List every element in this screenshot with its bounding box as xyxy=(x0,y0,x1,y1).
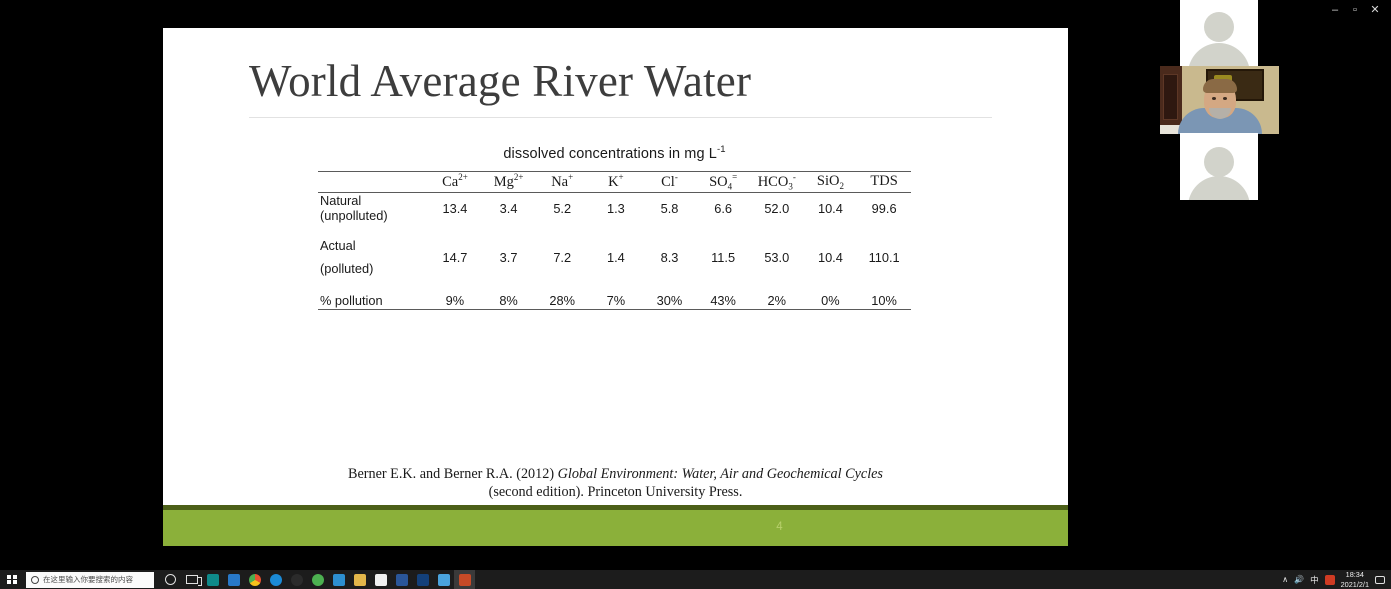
refresh-app-icon[interactable] xyxy=(328,570,349,589)
table-caption-text: dissolved concentrations in mg L xyxy=(503,146,717,162)
header-so4-text: SO xyxy=(709,174,728,190)
header-cell-mg: Mg2+ xyxy=(482,172,536,192)
header-cl-sup: - xyxy=(675,172,678,182)
window-controls: – ▫ ✕ xyxy=(1319,0,1391,20)
participant-tile-2[interactable] xyxy=(1160,66,1279,134)
table-caption: dissolved concentrations in mg L-1 xyxy=(318,144,911,162)
cell-actual-hco3: 53.0 xyxy=(750,224,804,293)
task-view-icon[interactable] xyxy=(181,570,202,589)
start-button[interactable] xyxy=(0,570,24,589)
word-icon[interactable] xyxy=(391,570,412,589)
table-row: % pollution 9% 8% 28% 7% 30% 43% 2% 0% 1… xyxy=(318,293,911,309)
table-row: Actual (polluted) 14.7 3.7 7.2 1.4 8.3 1… xyxy=(318,224,911,293)
header-k-sup: + xyxy=(619,172,624,182)
cell-actual-so4: 11.5 xyxy=(696,224,750,293)
table-row: Natural (unpolluted) 13.4 3.4 5.2 1.3 5.… xyxy=(318,193,911,224)
cell-actual-na: 7.2 xyxy=(535,224,589,293)
header-hco3-text: HCO xyxy=(758,174,789,190)
cell-natural-so4: 6.6 xyxy=(696,193,750,224)
notifications-icon[interactable] xyxy=(1375,576,1385,584)
header-cell-rowlabel xyxy=(318,172,428,192)
header-cell-sio2: SiO2 xyxy=(804,172,858,192)
header-na-sup: + xyxy=(568,172,573,182)
row-label-pollution: % pollution xyxy=(318,293,428,309)
app-icon-lightblue[interactable] xyxy=(433,570,454,589)
header-tds-text: TDS xyxy=(870,173,897,189)
cell-actual-ca: 14.7 xyxy=(428,224,482,293)
cell-actual-sio2: 10.4 xyxy=(804,224,858,293)
title-divider xyxy=(249,117,992,118)
header-hco3-sub: 3 xyxy=(788,182,793,192)
file-explorer-icon[interactable] xyxy=(349,570,370,589)
header-cell-na: Na+ xyxy=(535,172,589,192)
avatar-head-icon xyxy=(1204,12,1234,42)
webcam-person-eye-right xyxy=(1223,97,1227,100)
row-label-actual-line1: Actual xyxy=(320,238,356,253)
cell-natural-mg: 3.4 xyxy=(482,193,536,224)
participant-tile-3[interactable] xyxy=(1180,133,1258,200)
page-title: World Average River Water xyxy=(249,55,751,107)
qq-icon[interactable] xyxy=(286,570,307,589)
header-mg-sup: 2+ xyxy=(514,172,524,182)
app-icon-navy[interactable] xyxy=(412,570,433,589)
webcam-person-hair xyxy=(1203,79,1237,93)
header-so4-sub: 4 xyxy=(728,182,733,192)
webcam-person-eye-left xyxy=(1212,97,1216,100)
cell-pollution-cl: 30% xyxy=(643,293,697,309)
maximize-button[interactable]: ▫ xyxy=(1345,5,1365,16)
cell-natural-k: 1.3 xyxy=(589,193,643,224)
avatar-head-icon xyxy=(1204,147,1234,177)
cell-pollution-sio2: 0% xyxy=(804,293,858,309)
row-label-natural: Natural (unpolluted) xyxy=(318,193,428,224)
cell-actual-k: 1.4 xyxy=(589,224,643,293)
avatar-body-icon xyxy=(1188,176,1250,200)
cell-natural-na: 5.2 xyxy=(535,193,589,224)
minimize-button[interactable]: – xyxy=(1325,5,1345,16)
cell-pollution-tds: 10% xyxy=(857,293,911,309)
header-na-text: Na xyxy=(551,174,568,190)
cell-actual-tds: 110.1 xyxy=(857,224,911,293)
cell-actual-cl: 8.3 xyxy=(643,224,697,293)
header-cell-so4: SO4= xyxy=(696,172,750,192)
cell-pollution-ca: 9% xyxy=(428,293,482,309)
clock-date: 2021/2/1 xyxy=(1341,580,1369,589)
header-ca-sup: 2+ xyxy=(458,172,468,182)
header-so4-sup: = xyxy=(732,172,737,182)
citation-line1: Berner E.K. and Berner R.A. (2012) Globa… xyxy=(348,466,883,482)
water-composition-table: Ca2+ Mg2+ Na+ K+ Cl- SO4= HCO3- SiO2 TDS… xyxy=(318,171,911,310)
ime-indicator[interactable]: 中 xyxy=(1310,574,1319,586)
header-cell-tds: TDS xyxy=(857,172,911,192)
cell-natural-tds: 99.6 xyxy=(857,193,911,224)
edge-icon[interactable] xyxy=(265,570,286,589)
cortana-icon[interactable] xyxy=(160,570,181,589)
header-sio2-text: SiO xyxy=(817,173,840,189)
search-icon xyxy=(31,576,39,584)
row-label-natural-line1: Natural xyxy=(320,193,361,208)
citation-book-title: Global Environment: Water, Air and Geoch… xyxy=(558,466,883,482)
clock[interactable]: 18:34 2021/2/1 xyxy=(1341,570,1369,589)
close-button[interactable]: ✕ xyxy=(1365,5,1385,16)
system-tray: ∧ 🔊 中 18:34 2021/2/1 xyxy=(1282,570,1391,589)
cell-pollution-na: 28% xyxy=(535,293,589,309)
chrome-icon[interactable] xyxy=(244,570,265,589)
data-table-wrapper: dissolved concentrations in mg L-1 Ca2+ … xyxy=(318,144,911,310)
windows-logo-icon xyxy=(7,575,17,585)
search-placeholder-text: 在这里输入你要搜索的内容 xyxy=(43,574,133,585)
header-k-text: K xyxy=(608,174,618,190)
header-mg-text: Mg xyxy=(494,174,514,190)
header-cell-cl: Cl- xyxy=(643,172,697,192)
tray-app-icon[interactable] xyxy=(1325,575,1335,585)
participant-tile-1[interactable] xyxy=(1180,0,1258,67)
volume-icon[interactable]: 🔊 xyxy=(1294,576,1304,584)
table-rule-bottom xyxy=(318,309,911,310)
cell-natural-ca: 13.4 xyxy=(428,193,482,224)
avatar-body-icon xyxy=(1188,43,1250,67)
app-icon-teal[interactable] xyxy=(202,570,223,589)
header-sio2-sub: 2 xyxy=(839,181,844,191)
table-caption-superscript: -1 xyxy=(717,144,726,155)
cloud-app-icon[interactable] xyxy=(307,570,328,589)
app-icon-blue[interactable] xyxy=(223,570,244,589)
citation-authors: Berner E.K. and Berner R.A. (2012) xyxy=(348,466,558,482)
presentation-slide: World Average River Water dissolved conc… xyxy=(163,28,1068,546)
header-cell-hco3: HCO3- xyxy=(750,172,804,192)
row-label-actual-line2: (polluted) xyxy=(320,261,373,276)
cell-pollution-mg: 8% xyxy=(482,293,536,309)
table-header-row: Ca2+ Mg2+ Na+ K+ Cl- SO4= HCO3- SiO2 TDS xyxy=(318,172,911,192)
clock-time: 18:34 xyxy=(1346,570,1364,579)
row-label-natural-line2: (unpolluted) xyxy=(320,208,388,223)
windows-taskbar: 在这里输入你要搜索的内容 ∧ 🔊 中 18:34 xyxy=(0,570,1391,589)
chevron-up-icon[interactable]: ∧ xyxy=(1282,576,1288,584)
header-cell-ca: Ca2+ xyxy=(428,172,482,192)
screen-root: – ▫ ✕ World Average River Water dissolve… xyxy=(0,0,1391,589)
cell-pollution-so4: 43% xyxy=(696,293,750,309)
citation-line2: (second edition). Princeton University P… xyxy=(489,484,743,500)
header-ca-text: Ca xyxy=(442,174,458,190)
source-citation: Berner E.K. and Berner R.A. (2012) Globa… xyxy=(163,465,1068,501)
header-cl-text: Cl xyxy=(661,174,675,190)
cell-pollution-k: 7% xyxy=(589,293,643,309)
page-number: 4 xyxy=(327,521,1232,533)
slide-footer-bar: 4 xyxy=(163,505,1068,546)
cell-natural-sio2: 10.4 xyxy=(804,193,858,224)
taskbar-icons xyxy=(160,570,475,589)
cell-natural-hco3: 52.0 xyxy=(750,193,804,224)
powerpoint-icon[interactable] xyxy=(454,570,475,589)
row-label-actual: Actual (polluted) xyxy=(318,224,428,293)
header-hco3-sup: - xyxy=(793,172,796,182)
document-icon[interactable] xyxy=(370,570,391,589)
search-input[interactable]: 在这里输入你要搜索的内容 xyxy=(26,572,154,588)
video-participant-panel xyxy=(1160,0,1279,200)
cell-pollution-hco3: 2% xyxy=(750,293,804,309)
cell-natural-cl: 5.8 xyxy=(643,193,697,224)
header-cell-k: K+ xyxy=(589,172,643,192)
cell-actual-mg: 3.7 xyxy=(482,224,536,293)
